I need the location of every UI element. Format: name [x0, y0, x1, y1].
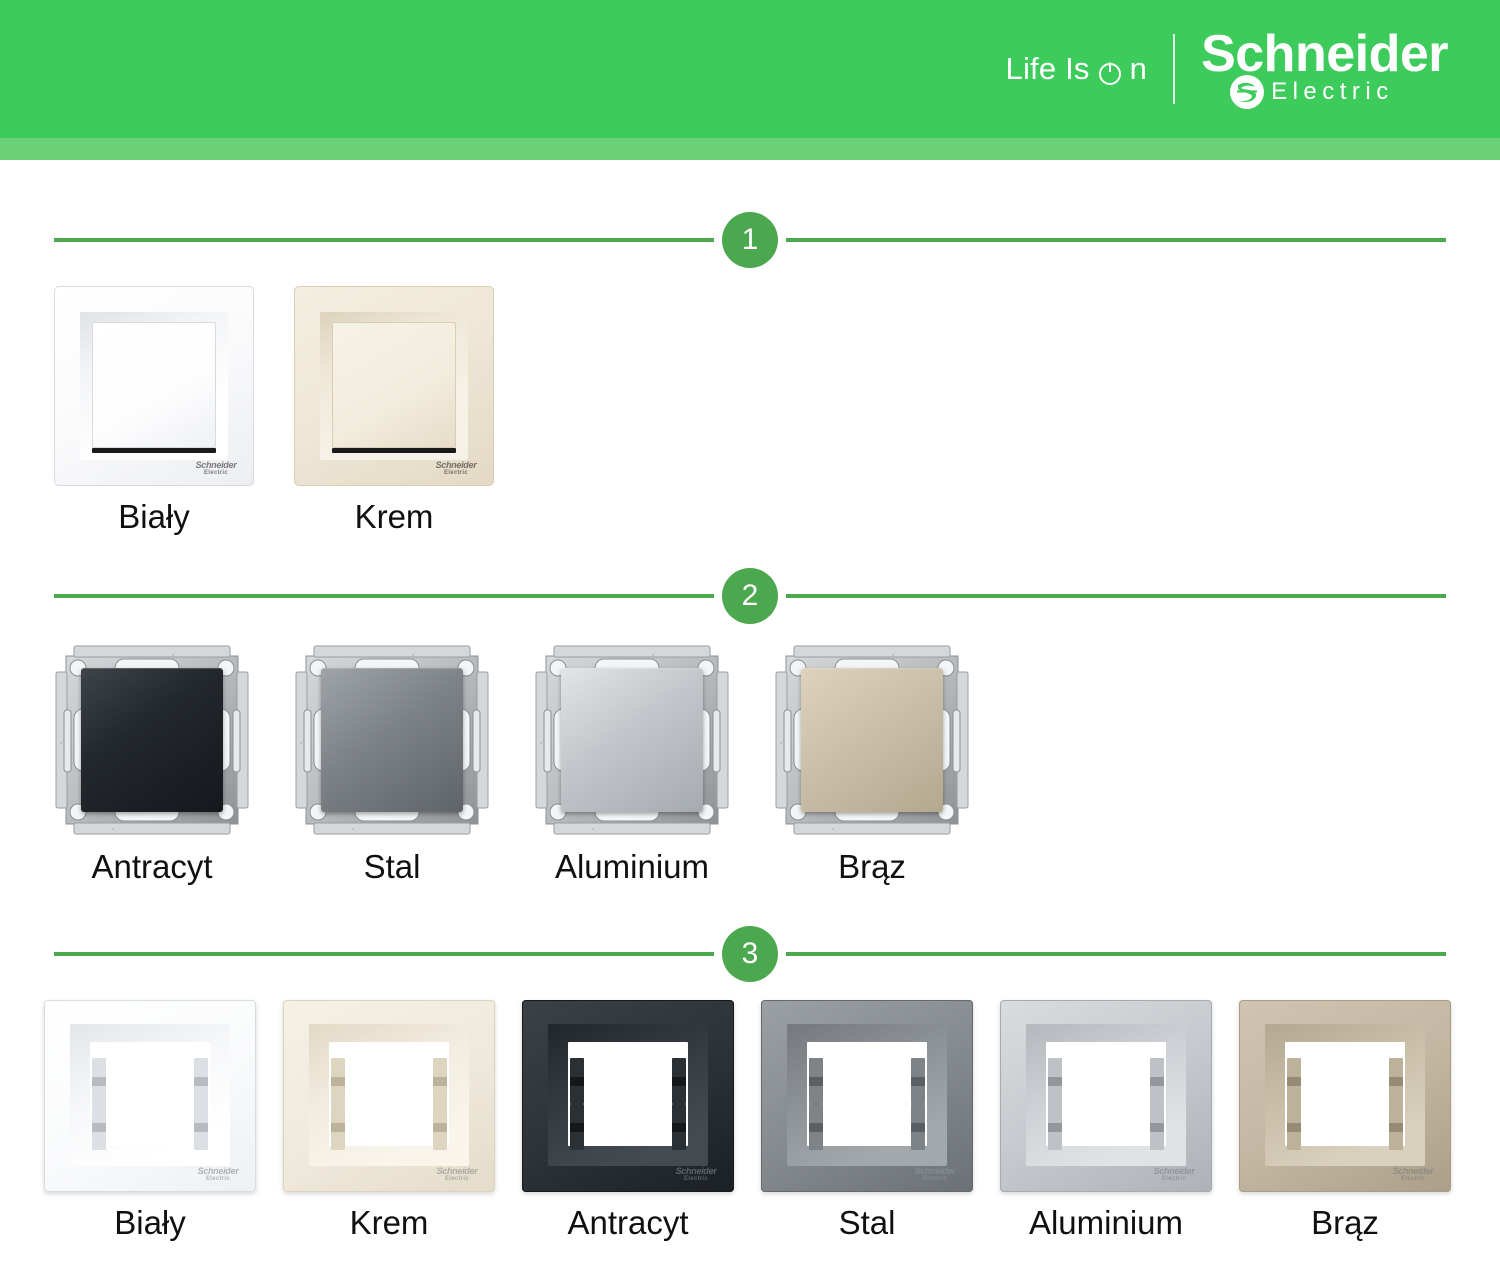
frame-aperture — [1285, 1042, 1405, 1146]
product-mechanism-2[interactable]: Stal — [292, 642, 492, 886]
frame-aperture — [807, 1042, 927, 1146]
mechanism-rocker — [321, 668, 463, 812]
frame-clip-top-left — [570, 1058, 584, 1104]
product-label: Stal — [839, 1204, 896, 1242]
page-root: Life Is n Schneider — [0, 0, 1500, 1270]
frame-clip-bottom-right — [1389, 1104, 1403, 1150]
section-divider-3: 3 — [0, 926, 1500, 982]
mechanism-image — [52, 642, 252, 838]
divider-line-left — [54, 594, 714, 598]
divider-line-right — [786, 238, 1446, 242]
frame-clip-top-left — [809, 1058, 823, 1104]
frame-aperture — [90, 1042, 210, 1146]
frame-aperture — [329, 1042, 449, 1146]
mechanism-rocker — [561, 668, 703, 812]
tagline-text: Life Is — [1006, 51, 1090, 87]
frame-clip-top-right — [1389, 1058, 1403, 1104]
switch-gap-shadow — [332, 448, 456, 453]
frame-image: SchneiderElectric — [1239, 1000, 1451, 1192]
product-label: Biały — [114, 1204, 186, 1242]
mechanism-rocker — [801, 668, 943, 812]
frame-clip-top-right — [433, 1058, 447, 1104]
switch-rocker — [92, 322, 216, 448]
section-divider-2: 2 — [0, 568, 1500, 624]
tagline-suffix: n — [1130, 51, 1147, 87]
frame-clip-top-left — [1287, 1058, 1301, 1104]
switch-image: Schneider Electric — [54, 286, 254, 486]
power-icon — [1097, 58, 1123, 84]
frame-clip-bottom-left — [331, 1104, 345, 1150]
frame-clip-bottom-right — [433, 1104, 447, 1150]
frame-image: SchneiderElectric — [283, 1000, 495, 1192]
section-badge-3: 3 — [722, 926, 778, 982]
product-label: Aluminium — [555, 848, 709, 886]
divider-line-left — [54, 952, 714, 956]
schneider-logo: Schneider Electric — [1175, 28, 1448, 110]
product-mechanism-1[interactable]: Antracyt — [52, 642, 252, 886]
product-frame-4[interactable]: SchneiderElectricStal — [761, 1000, 973, 1242]
switch-gap-shadow — [92, 448, 216, 453]
frame-clip-bottom-right — [911, 1104, 925, 1150]
product-frame-2[interactable]: SchneiderElectricKrem — [283, 1000, 495, 1242]
product-switch-bialy[interactable]: Schneider Electric Biały — [54, 286, 254, 536]
frame-aperture — [1046, 1042, 1166, 1146]
frame-aperture — [568, 1042, 688, 1146]
frame-clip-top-left — [331, 1058, 345, 1104]
frame-clip-bottom-right — [194, 1104, 208, 1150]
section-badge-2: 2 — [722, 568, 778, 624]
frame-clip-bottom-left — [570, 1104, 584, 1150]
section-3-products: SchneiderElectricBiałySchneiderElectricK… — [0, 1000, 1500, 1242]
mechanism-rocker — [81, 668, 223, 812]
frame-clip-bottom-right — [672, 1104, 686, 1150]
product-frame-1[interactable]: SchneiderElectricBiały — [44, 1000, 256, 1242]
product-label: Stal — [364, 848, 421, 886]
frame-clip-top-right — [1150, 1058, 1164, 1104]
frame-clip-bottom-left — [92, 1104, 106, 1150]
product-label: Antracyt — [91, 848, 212, 886]
product-mechanism-3[interactable]: Aluminium — [532, 642, 732, 886]
product-label: Brąz — [838, 848, 906, 886]
header-accent-strip — [0, 138, 1500, 160]
frame-clip-top-right — [672, 1058, 686, 1104]
mechanism-image — [772, 642, 972, 838]
divider-line-right — [786, 594, 1446, 598]
logo-electric-text: Electric — [1271, 78, 1394, 106]
logo-wordmark: Schneider — [1201, 28, 1448, 80]
product-frame-6[interactable]: SchneiderElectricBrąz — [1239, 1000, 1451, 1242]
frame-clip-bottom-left — [1048, 1104, 1062, 1150]
frame-image: SchneiderElectric — [1000, 1000, 1212, 1192]
product-mechanism-4[interactable]: Brąz — [772, 642, 972, 886]
schneider-s-icon — [1229, 74, 1265, 110]
logo-sub-row: Electric — [1229, 74, 1394, 110]
mechanism-image — [532, 642, 732, 838]
divider-line-left — [54, 238, 714, 242]
product-label: Krem — [350, 1204, 429, 1242]
product-frame-3[interactable]: SchneiderElectricAntracyt — [522, 1000, 734, 1242]
section-1-products: Schneider Electric Biały Schneider Elect… — [0, 286, 1500, 536]
frame-clip-top-left — [1048, 1058, 1062, 1104]
product-frame-5[interactable]: SchneiderElectricAluminium — [1000, 1000, 1212, 1242]
tagline: Life Is n — [1006, 51, 1174, 87]
divider-line-right — [786, 952, 1446, 956]
mechanism-image — [292, 642, 492, 838]
frame-image: SchneiderElectric — [522, 1000, 734, 1192]
switch-image: Schneider Electric — [294, 286, 494, 486]
product-label: Antracyt — [567, 1204, 688, 1242]
frame-clip-top-right — [911, 1058, 925, 1104]
section-divider-1: 1 — [0, 212, 1500, 268]
product-switch-krem[interactable]: Schneider Electric Krem — [294, 286, 494, 536]
section-2-products: Antracyt — [0, 642, 1500, 886]
frame-image: SchneiderElectric — [761, 1000, 973, 1192]
product-label: Brąz — [1311, 1204, 1379, 1242]
frame-clip-top-right — [194, 1058, 208, 1104]
product-label: Biały — [118, 498, 190, 536]
product-label: Krem — [355, 498, 434, 536]
switch-rocker — [332, 322, 456, 448]
frame-clip-bottom-right — [1150, 1104, 1164, 1150]
brand-lockup: Life Is n Schneider — [1006, 0, 1448, 138]
frame-clip-bottom-left — [1287, 1104, 1301, 1150]
frame-clip-bottom-left — [809, 1104, 823, 1150]
frame-clip-top-left — [92, 1058, 106, 1104]
frame-image: SchneiderElectric — [44, 1000, 256, 1192]
product-label: Aluminium — [1029, 1204, 1183, 1242]
section-badge-1: 1 — [722, 212, 778, 268]
